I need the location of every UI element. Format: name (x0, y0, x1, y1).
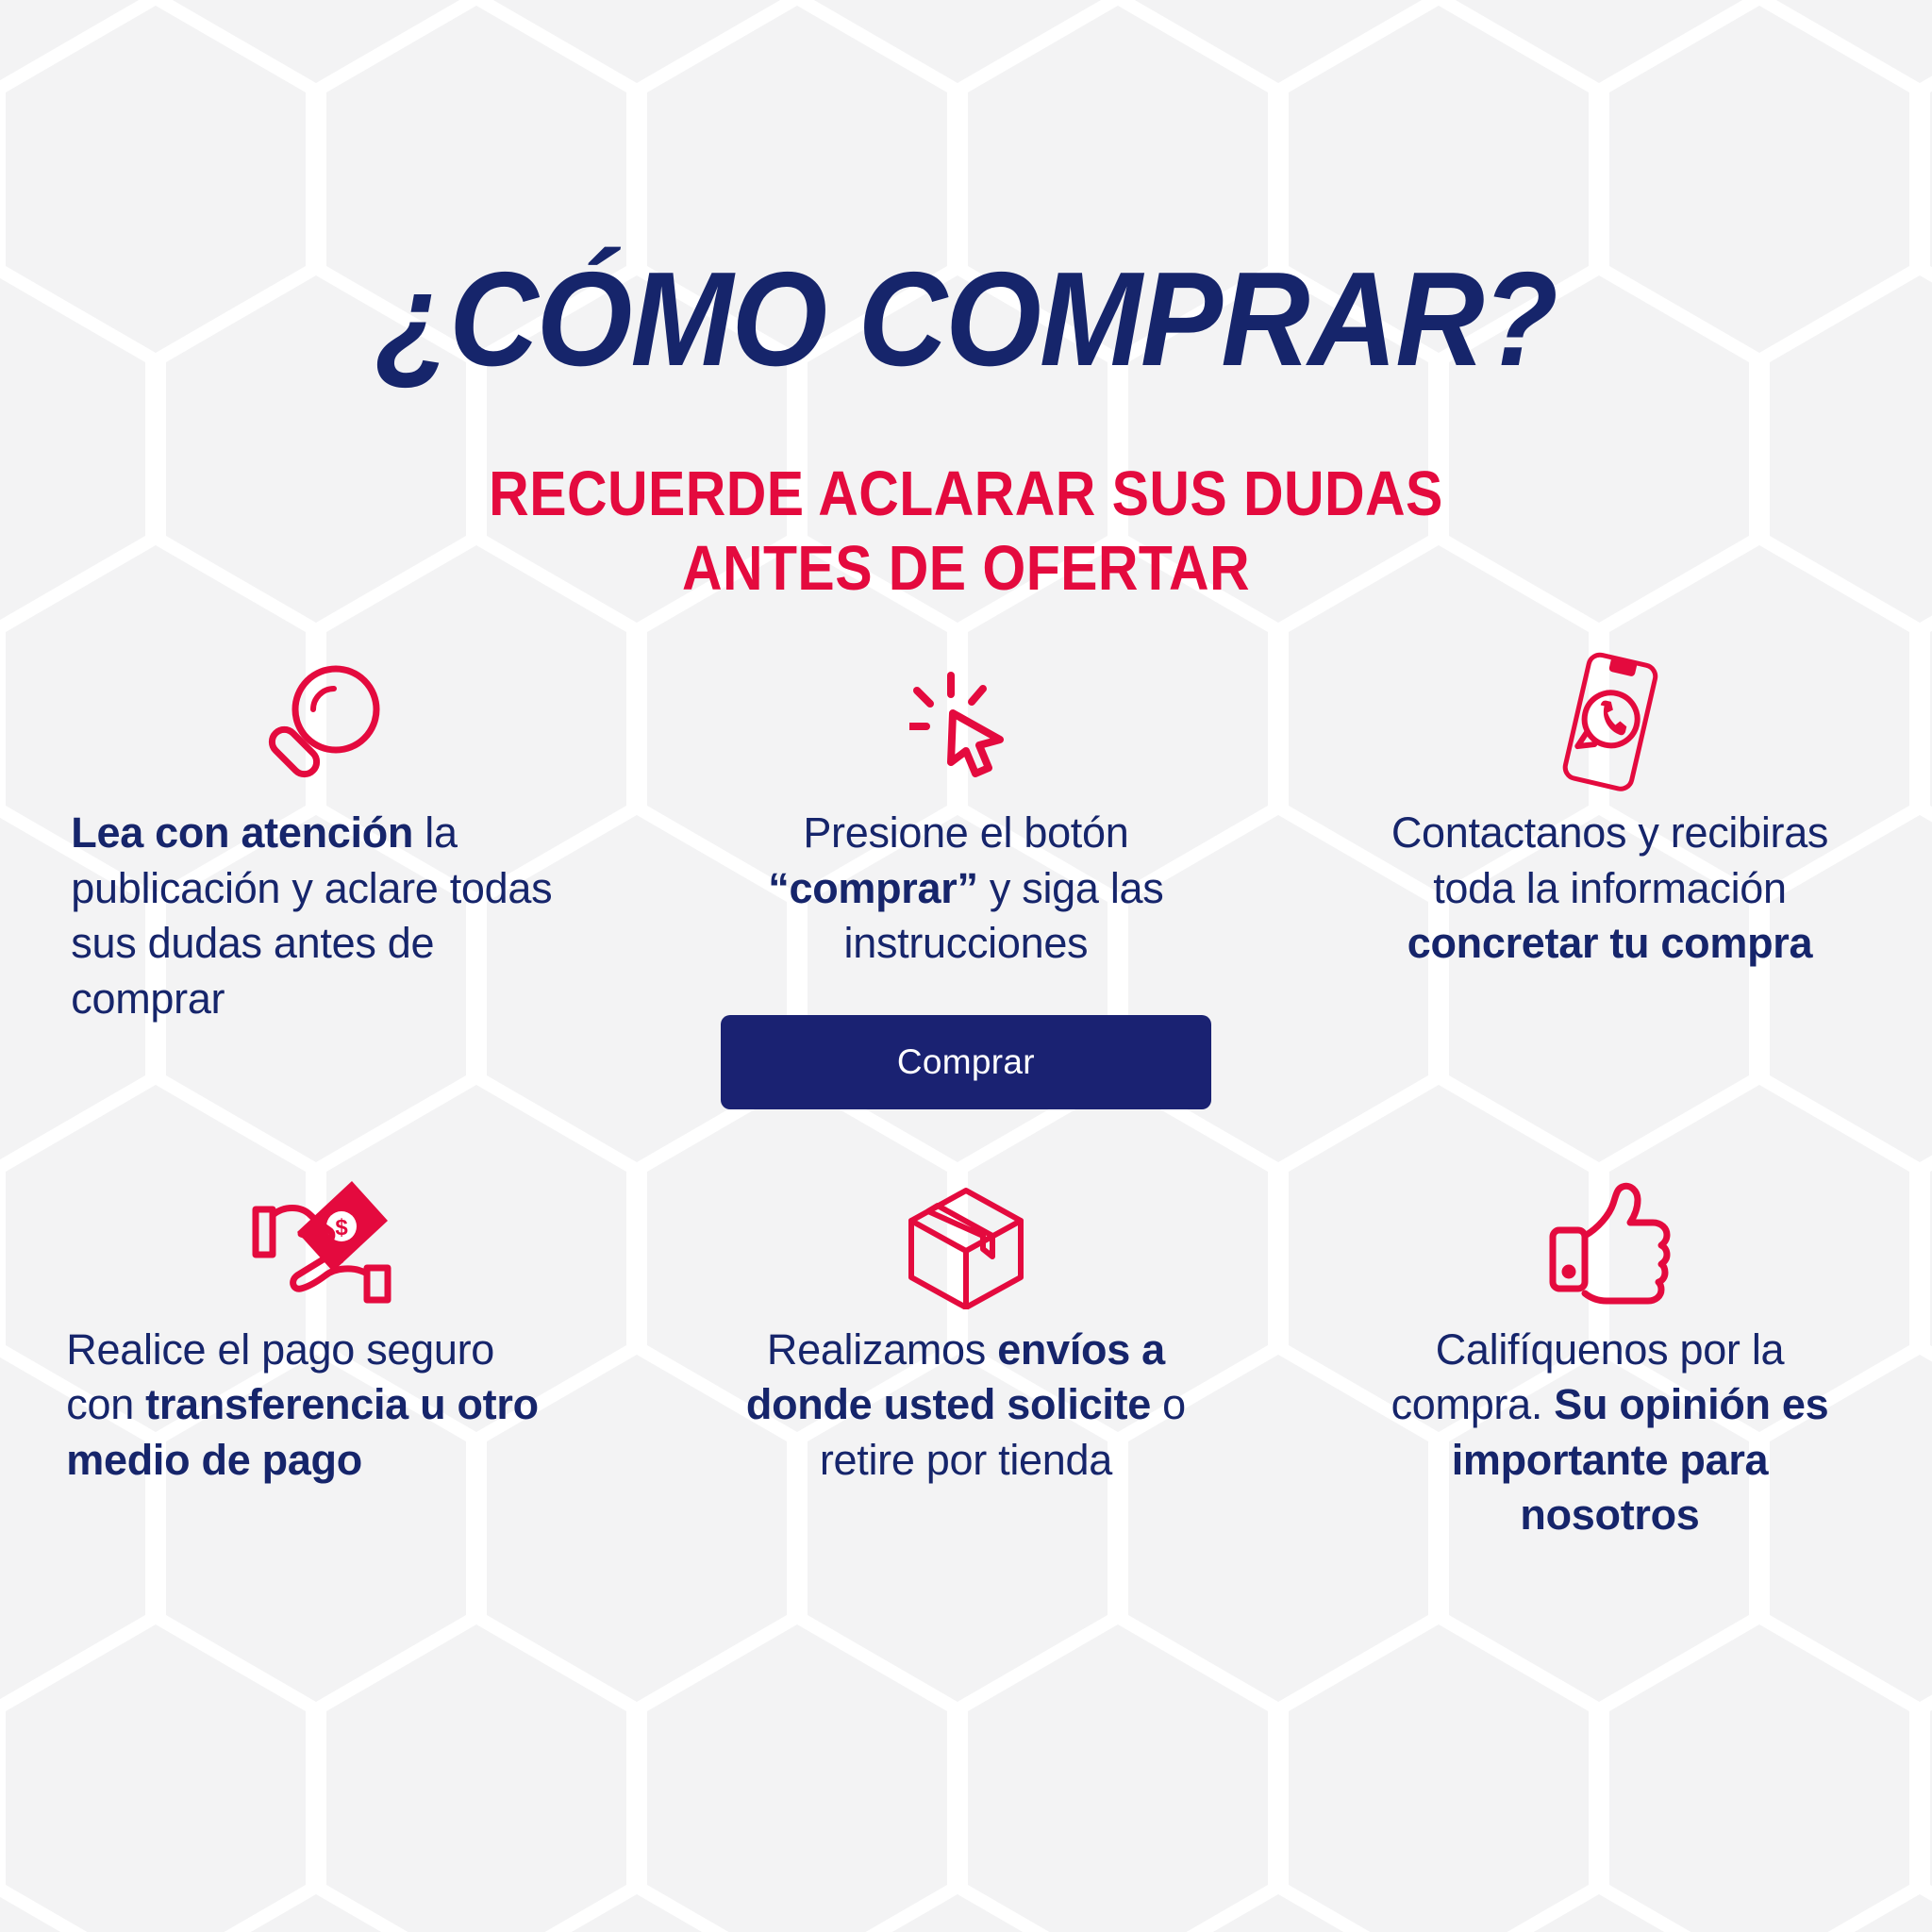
comprar-button[interactable]: Comprar (721, 1015, 1211, 1109)
steps-row-bottom: $ Realice el pago seguro con transferenc… (0, 1158, 1932, 1543)
svg-text:$: $ (336, 1215, 349, 1241)
whatsapp-phone-icon (1548, 651, 1671, 792)
step-payment: $ Realice el pago seguro con transferenc… (0, 1158, 644, 1543)
step-payment-text: Realice el pago seguro con transferencia… (66, 1323, 566, 1489)
step-read: Lea con atención la publicación y aclare… (0, 651, 644, 1109)
magnifier-icon (260, 651, 383, 792)
click-cursor-icon (909, 651, 1023, 792)
step-contact: Contactanos y recibiras toda la informac… (1288, 651, 1932, 1109)
step-shipping-text: Realizamos envíos a donde usted solicite… (716, 1323, 1216, 1489)
step-buy: Presione el botón “comprar” y siga las i… (644, 651, 1289, 1109)
step-contact-text: Contactanos y recibiras toda la informac… (1364, 806, 1855, 972)
step-buy-text: Presione el botón “comprar” y siga las i… (721, 806, 1211, 972)
money-hands-icon: $ (246, 1158, 397, 1309)
package-box-icon (900, 1158, 1032, 1309)
step-shipping: Realizamos envíos a donde usted solicite… (644, 1158, 1289, 1543)
page-subtitle: RECUERDE ACLARAR SUS DUDAS ANTES DE OFER… (116, 457, 1816, 606)
page-title-wrap: ¿CÓMO COMPRAR? (0, 253, 1932, 387)
page-subtitle-line-1: RECUERDE ACLARAR SUS DUDAS (116, 457, 1816, 531)
step-rating: Califíquenos por la compra. Su opinión e… (1288, 1158, 1932, 1543)
page-subtitle-line-2: ANTES DE OFERTAR (116, 531, 1816, 606)
step-read-text: Lea con atención la publicación y aclare… (71, 806, 561, 1026)
infographic-page: ¿CÓMO COMPRAR? RECUERDE ACLARAR SUS DUDA… (0, 0, 1932, 1932)
step-rating-text: Califíquenos por la compra. Su opinión e… (1359, 1323, 1859, 1543)
steps-row-top: Lea con atención la publicación y aclare… (0, 651, 1932, 1109)
page-title: ¿CÓMO COMPRAR? (77, 253, 1855, 387)
thumbs-up-icon (1543, 1158, 1675, 1309)
steps-grid: Lea con atención la publicación y aclare… (0, 651, 1932, 1543)
